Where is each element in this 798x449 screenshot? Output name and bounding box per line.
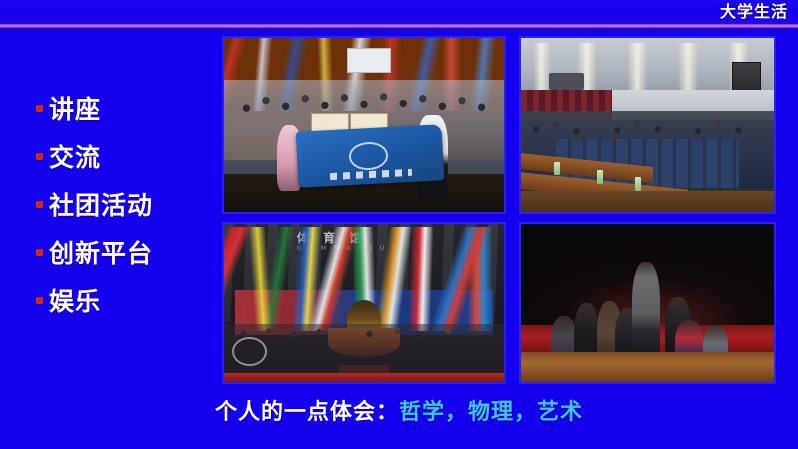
lead-actor-decor <box>632 262 660 354</box>
bullet-list: 讲座 交流 社团活动 创新平台 娱乐 <box>36 84 221 324</box>
floor-decor <box>521 191 774 212</box>
photo-stage-drama <box>519 222 776 384</box>
stage-floor-decor <box>521 352 774 382</box>
list-item: 创新平台 <box>36 228 221 276</box>
slide-root: 大学生活 讲座 交流 社团活动 创新平台 娱乐 <box>0 0 798 449</box>
header-divider-glow <box>0 28 798 30</box>
bullet-dot-icon <box>36 153 43 160</box>
water-bottle-decor <box>597 170 604 184</box>
bullet-dot-icon <box>36 249 43 256</box>
photo-flag-ceremony: 体 育 馆 G Y M N A S I U M <box>222 222 506 384</box>
bullet-label: 交流 <box>49 138 101 174</box>
bullet-dot-icon <box>36 105 43 112</box>
projector-icon <box>549 73 584 90</box>
photo-banner-ceremony <box>222 36 506 214</box>
red-carpet-decor <box>224 373 504 382</box>
photo-lecture-hall <box>519 36 776 214</box>
university-seal-icon <box>349 142 389 171</box>
page-title: 大学生活 <box>720 2 788 22</box>
list-item: 社团活动 <box>36 180 221 228</box>
banner-text-decor <box>330 169 412 180</box>
water-bottle-decor <box>554 162 561 176</box>
slide-caption: 个人的一点体会：哲学，物理，艺术 <box>0 398 798 426</box>
water-bottle-decor <box>635 177 642 191</box>
bullet-label: 娱乐 <box>49 282 101 318</box>
signboard-decor <box>347 48 391 73</box>
list-item: 交流 <box>36 132 221 180</box>
list-item: 娱乐 <box>36 276 221 324</box>
bullet-label: 讲座 <box>49 90 101 126</box>
bullet-label: 创新平台 <box>49 234 153 270</box>
bullet-label: 社团活动 <box>49 186 153 222</box>
bullet-dot-icon <box>36 297 43 304</box>
photo-grid: 体 育 馆 G Y M N A S I U M <box>222 36 776 384</box>
university-banner-decor <box>295 125 443 188</box>
list-item: 讲座 <box>36 84 221 132</box>
caption-accent-text: 哲学，物理，艺术 <box>399 399 583 425</box>
bullet-dot-icon <box>36 201 43 208</box>
caption-lead-text: 个人的一点体会： <box>215 399 399 425</box>
header-band <box>0 0 798 24</box>
